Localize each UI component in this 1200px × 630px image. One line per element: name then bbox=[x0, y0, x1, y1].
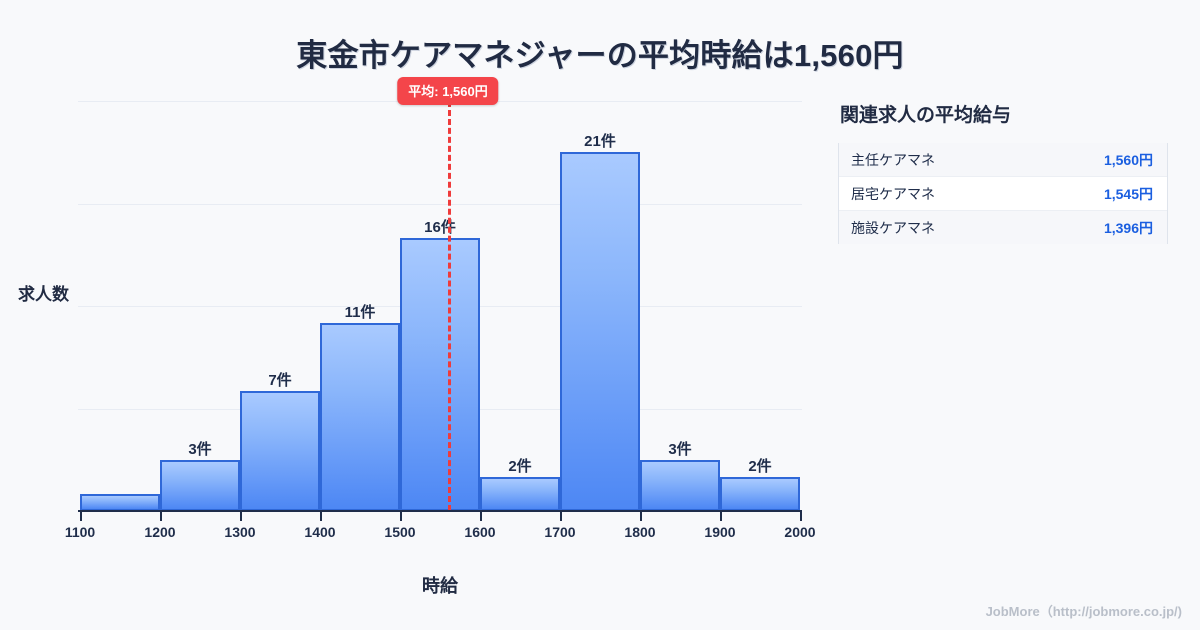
x-axis-tick bbox=[320, 512, 322, 521]
bar-value-label: 16件 bbox=[400, 216, 480, 237]
histogram-bar bbox=[320, 323, 400, 511]
bar-value-label: 7件 bbox=[240, 369, 320, 390]
histogram-bar bbox=[640, 460, 720, 511]
histogram-chart: 求人数 3件7件11件16件2件21件3件2件平均: 1,560円 110012… bbox=[0, 0, 840, 630]
salary-value: 1,396円 bbox=[1104, 218, 1153, 238]
histogram-bar bbox=[240, 391, 320, 511]
x-axis-tick-label: 1100 bbox=[50, 524, 110, 540]
x-axis-tick-label: 1600 bbox=[450, 524, 510, 540]
bar-value-label: 11件 bbox=[320, 301, 400, 322]
x-axis-tick-label: 1400 bbox=[290, 524, 350, 540]
table-row: 施設ケアマネ1,396円 bbox=[839, 211, 1167, 244]
bar-value-label: 3件 bbox=[160, 438, 240, 459]
x-axis-tick-label: 1200 bbox=[130, 524, 190, 540]
histogram-bar bbox=[720, 477, 800, 511]
bar-value-label: 21件 bbox=[560, 130, 640, 151]
x-axis-tick bbox=[240, 512, 242, 521]
x-axis-title: 時給 bbox=[0, 572, 880, 598]
x-axis-line bbox=[78, 510, 802, 512]
salary-role-label: 主任ケアマネ bbox=[851, 150, 935, 170]
x-axis-tick bbox=[160, 512, 162, 521]
salary-value: 1,560円 bbox=[1104, 150, 1153, 170]
bar-value-label: 2件 bbox=[480, 455, 560, 476]
bar-value-label: 3件 bbox=[640, 438, 720, 459]
salary-table: 主任ケアマネ1,560円居宅ケアマネ1,545円施設ケアマネ1,396円 bbox=[838, 143, 1168, 244]
x-axis-tick-label: 2000 bbox=[770, 524, 830, 540]
histogram-bar bbox=[560, 152, 640, 511]
x-axis-tick bbox=[480, 512, 482, 521]
x-axis-tick bbox=[560, 512, 562, 521]
salary-role-label: 居宅ケアマネ bbox=[851, 184, 935, 204]
panel-heading: 関連求人の平均給与 bbox=[840, 100, 1168, 127]
x-axis-tick bbox=[640, 512, 642, 521]
histogram-bar bbox=[160, 460, 240, 511]
x-axis-tick-label: 1300 bbox=[210, 524, 270, 540]
table-row: 居宅ケアマネ1,545円 bbox=[839, 177, 1167, 211]
x-axis-tick-label: 1500 bbox=[370, 524, 430, 540]
infographic-page: 東金市ケアマネジャーの平均時給は1,560円 求人数 3件7件11件16件2件2… bbox=[0, 0, 1200, 630]
histogram-bar bbox=[480, 477, 560, 511]
x-axis-tick bbox=[80, 512, 82, 521]
x-axis-tick-label: 1700 bbox=[530, 524, 590, 540]
y-axis-title: 求人数 bbox=[18, 280, 69, 305]
table-row: 主任ケアマネ1,560円 bbox=[839, 143, 1167, 177]
x-axis-tick-label: 1900 bbox=[690, 524, 750, 540]
gridline bbox=[78, 204, 802, 205]
salary-role-label: 施設ケアマネ bbox=[851, 218, 935, 238]
average-badge: 平均: 1,560円 bbox=[397, 77, 498, 105]
histogram-bar bbox=[80, 494, 160, 511]
plot-area: 3件7件11件16件2件21件3件2件平均: 1,560円 bbox=[80, 101, 800, 511]
histogram-bar bbox=[400, 238, 480, 511]
average-line bbox=[448, 101, 451, 511]
x-axis-tick bbox=[720, 512, 722, 521]
salary-value: 1,545円 bbox=[1104, 184, 1153, 204]
x-axis-tick bbox=[800, 512, 802, 521]
related-salary-panel: 関連求人の平均給与 主任ケアマネ1,560円居宅ケアマネ1,545円施設ケアマネ… bbox=[838, 100, 1168, 244]
x-axis-tick-label: 1800 bbox=[610, 524, 670, 540]
footer-credit: JobMore（http://jobmore.co.jp/) bbox=[986, 601, 1182, 620]
bar-value-label: 2件 bbox=[720, 455, 800, 476]
x-axis-tick bbox=[400, 512, 402, 521]
